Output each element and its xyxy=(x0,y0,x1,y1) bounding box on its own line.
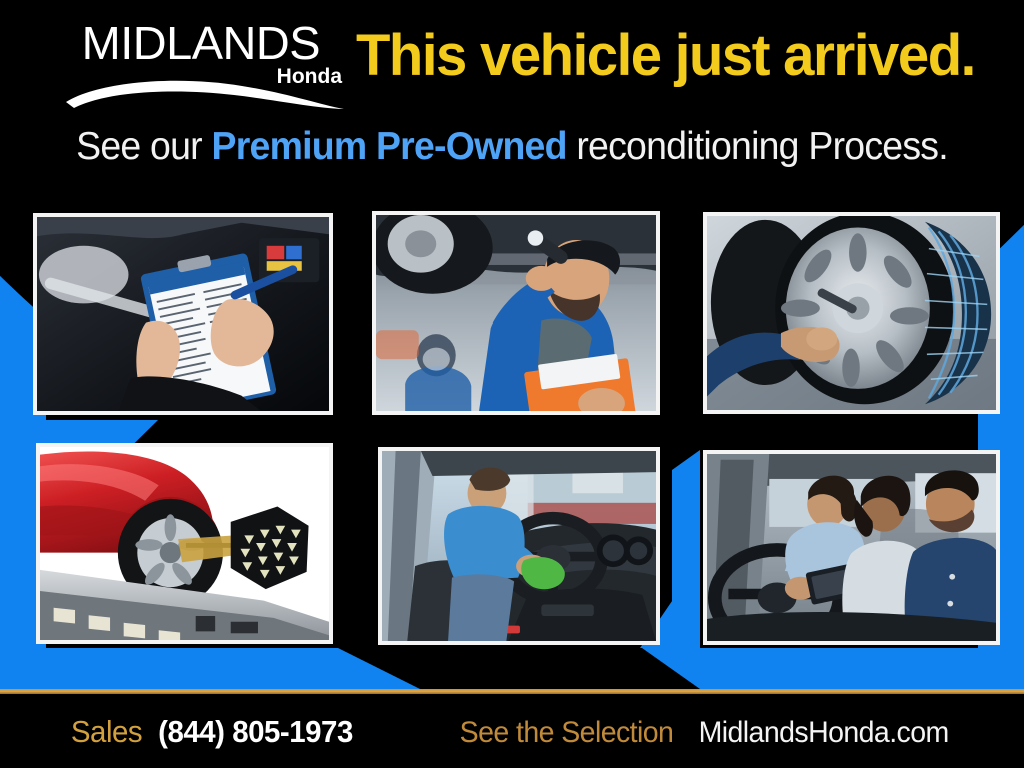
sales-phone-number[interactable]: (844) 805-1973 xyxy=(158,714,353,750)
blue-bottom-band xyxy=(0,648,1024,689)
blue-wedge-left xyxy=(0,278,36,690)
blue-band-left xyxy=(0,440,36,690)
photo-interior-detailing xyxy=(378,447,660,645)
subheadline-prefix: See our xyxy=(76,125,211,168)
photo-wheel-tire-service-image xyxy=(707,216,996,410)
photo-wheel-alignment-image xyxy=(40,447,329,640)
banner-footer: Sales (844) 805-1973 See the Selection M… xyxy=(0,694,1024,768)
blue-band-bottom xyxy=(0,648,1024,689)
sales-label: Sales xyxy=(71,714,142,750)
photo-inspection-checklist xyxy=(33,213,333,415)
photo-wheel-alignment xyxy=(36,443,333,644)
website-link[interactable]: MidlandsHonda.com xyxy=(698,716,948,750)
black-center-notch xyxy=(338,648,700,689)
photo-interior-detailing-image xyxy=(382,451,656,641)
footer-contact-row: Sales (844) 805-1973 See the Selection M… xyxy=(0,714,1024,750)
subheadline-suffix: reconditioning Process. xyxy=(567,125,948,168)
photo-undercarriage-inspection xyxy=(372,211,660,415)
subheadline: See our Premium Pre-Owned reconditioning… xyxy=(20,126,1003,169)
promotional-banner: MIDLANDS Honda This vehicle just arrived… xyxy=(0,0,1024,768)
see-the-selection-label: See the Selection xyxy=(460,716,674,750)
photo-customer-delivery xyxy=(703,450,1000,645)
logo-primary-text: MIDLANDS xyxy=(82,20,320,66)
photo-inspection-checklist-image xyxy=(37,217,329,411)
headline-text: This vehicle just arrived. xyxy=(356,25,975,88)
blue-wedge-left-diag xyxy=(0,278,36,690)
dealer-logo[interactable]: MIDLANDS Honda xyxy=(62,18,352,100)
swoosh-icon xyxy=(62,76,352,110)
banner-header: MIDLANDS Honda This vehicle just arrived… xyxy=(0,0,1024,108)
photo-wheel-tire-service xyxy=(703,212,1000,414)
black-notch-center xyxy=(340,648,700,689)
subheadline-highlight: Premium Pre-Owned xyxy=(212,125,567,168)
photo-undercarriage-inspection-image xyxy=(376,215,656,411)
photo-customer-delivery-image xyxy=(707,454,996,641)
blue-right-triangle xyxy=(672,450,700,648)
